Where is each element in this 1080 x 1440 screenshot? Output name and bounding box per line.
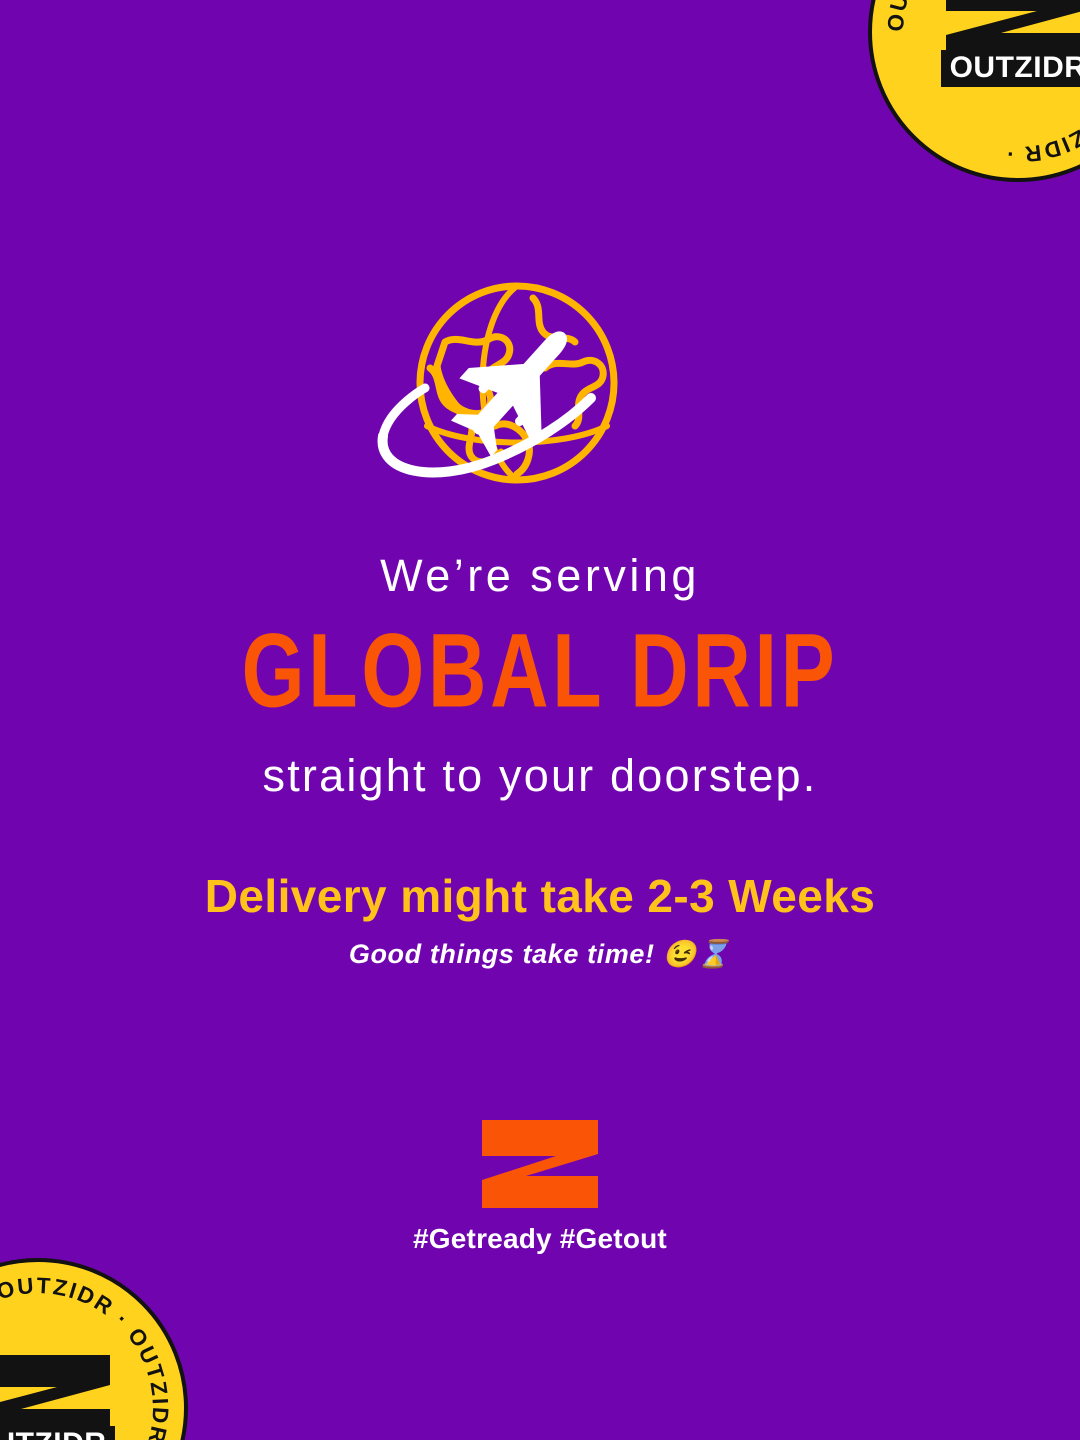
badge-wordmark-tr: OUTZIDR (941, 50, 1080, 87)
kicker-text: We’re serving (40, 552, 1040, 601)
outzidr-stamp-badge-bottom-left: OUTZIDR · OUTZIDR · OUTZIDR · OUTZIDR · … (0, 1258, 188, 1440)
subline-text: straight to your doorstep. (40, 751, 1040, 801)
reassurance-text: Good things take time! 😉⌛ (40, 938, 1040, 970)
page-title: GLOBAL DRIP (70, 615, 1010, 728)
badge-core-bl: OUTZIDR (0, 1353, 122, 1440)
outzidr-stamp-badge-top-right: OUTZIDR · OUTZIDR · OUTZIDR · OUTZIDR · … (868, 0, 1080, 182)
footer-lockup: #Getready #Getout (0, 1118, 1080, 1255)
hashtags-text: #Getready #Getout (413, 1224, 667, 1255)
promo-poster: We’re serving GLOBAL DRIP straight to yo… (0, 0, 1080, 1440)
badge-core-tr: OUTZIDR (934, 0, 1080, 87)
hero-illustration (0, 276, 1080, 504)
delivery-note: Delivery might take 2-3 Weeks (40, 871, 1040, 922)
badge-wordmark-bl: OUTZIDR (0, 1426, 115, 1440)
globe-airplane-icon (367, 276, 713, 504)
outzidr-z-logo-icon (478, 1118, 602, 1210)
copy-block: We’re serving GLOBAL DRIP straight to yo… (0, 552, 1080, 970)
